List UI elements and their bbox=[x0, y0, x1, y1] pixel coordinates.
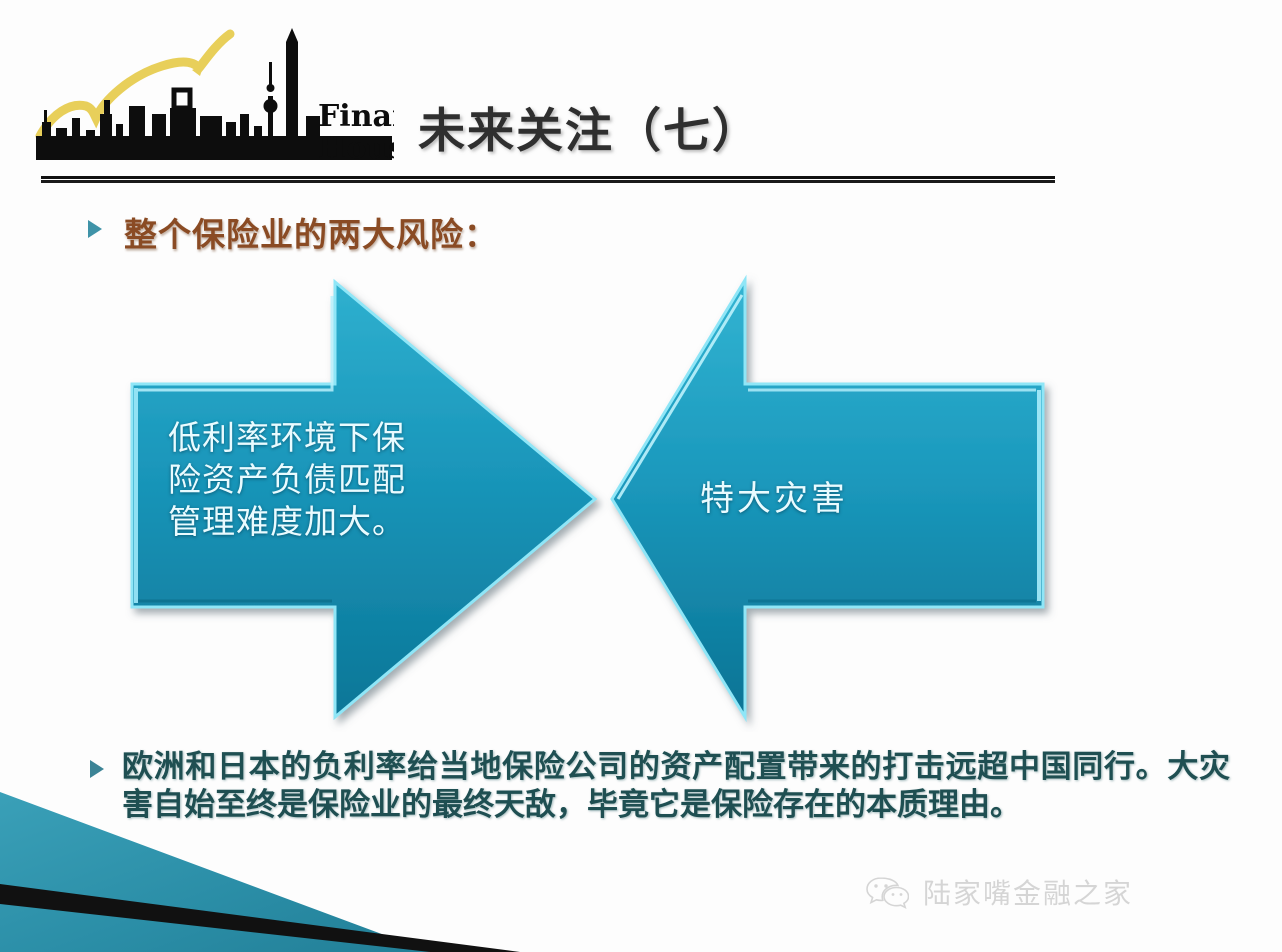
lujiazui-finance-house-logo: Finance House bbox=[34, 18, 394, 178]
wechat-icon bbox=[865, 874, 909, 910]
triangle-right-icon bbox=[88, 220, 102, 238]
logo-house-text: House bbox=[318, 131, 394, 166]
slide-header: Finance House 未来关注（七） bbox=[0, 0, 1282, 190]
corner-decoration bbox=[0, 772, 520, 952]
watermark-label: 陆家嘴金融之家 bbox=[923, 872, 1133, 912]
slide-canvas: Finance House 未来关注（七） 整个保险业的两大风险： bbox=[0, 0, 1282, 952]
arrow-left-label: 低利率环境下保 险资产负债匹配 管理难度加大。 bbox=[168, 417, 478, 544]
lead-text: 整个保险业的两大风险： bbox=[124, 208, 498, 256]
lead-bullet-row: 整个保险业的两大风险： bbox=[88, 208, 498, 256]
logo-finance-text: Finance bbox=[318, 99, 394, 134]
watermark: 陆家嘴金融之家 bbox=[865, 872, 1133, 912]
page-title: 未来关注（七） bbox=[418, 92, 761, 161]
title-underline-rule bbox=[41, 176, 1055, 183]
arrow-right-label: 特大灾害 bbox=[700, 478, 1030, 522]
